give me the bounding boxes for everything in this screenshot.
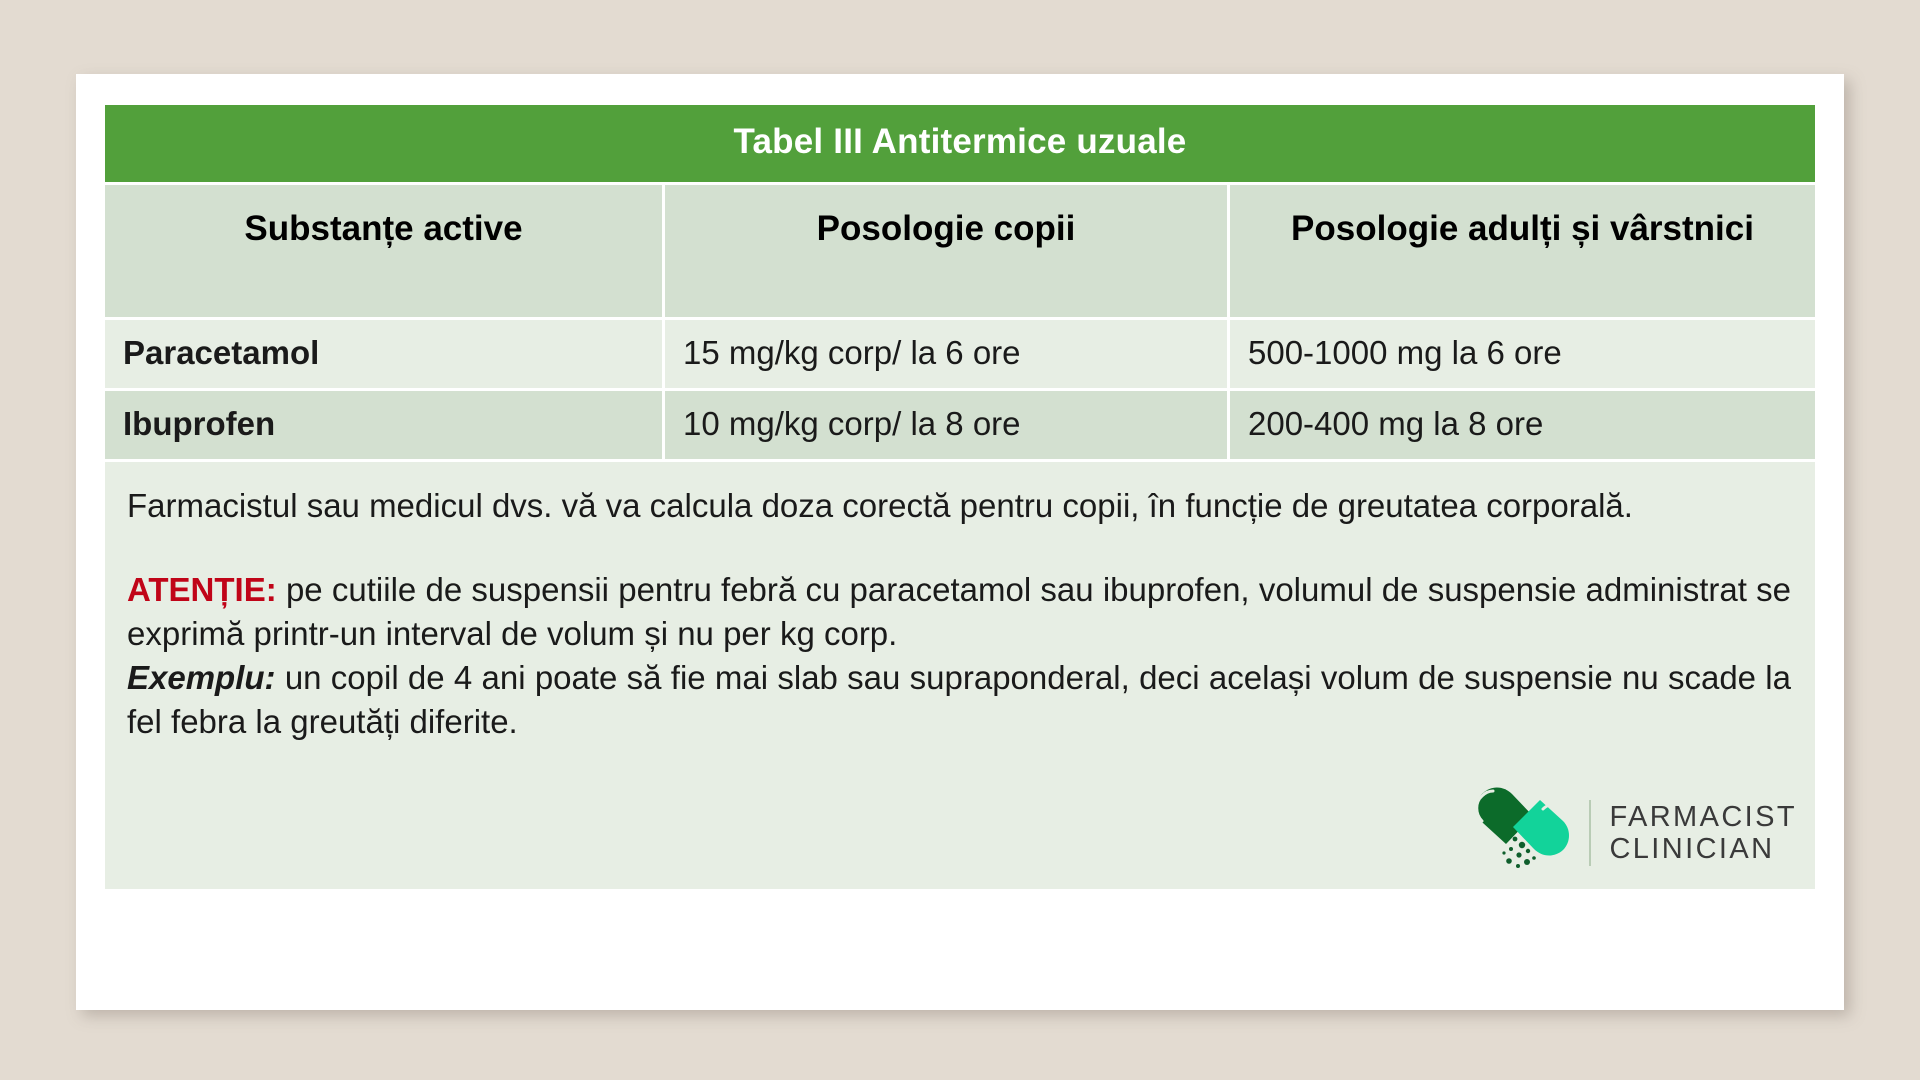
antipyretics-table: Tabel III Antitermice uzuale Substanțe a…	[105, 105, 1815, 459]
cell-children-dose: 15 mg/kg corp/ la 6 ore	[665, 317, 1230, 388]
column-header-adult-dosage: Posologie adulți și vârstnici	[1230, 182, 1815, 317]
notes-panel: Farmacistul sau medicul dvs. vă va calcu…	[105, 459, 1815, 889]
table-row: Paracetamol 15 mg/kg corp/ la 6 ore 500-…	[105, 317, 1815, 388]
logo-divider	[1589, 800, 1591, 866]
warning-text: pe cutiile de suspensii pentru febră cu …	[127, 571, 1791, 652]
table-row: Ibuprofen 10 mg/kg corp/ la 8 ore 200-40…	[105, 388, 1815, 459]
logo-wordmark: FARMACIST CLINICIAN	[1609, 801, 1797, 866]
cell-substance: Paracetamol	[105, 317, 665, 388]
brand-logo: FARMACIST CLINICIAN	[1471, 785, 1797, 881]
warning-label: ATENȚIE:	[127, 571, 277, 608]
slide-stage: Tabel III Antitermice uzuale Substanțe a…	[0, 0, 1920, 1080]
note-paragraph-dosing: Farmacistul sau medicul dvs. vă va calcu…	[127, 484, 1791, 528]
example-label: Exemplu:	[127, 659, 276, 696]
cell-adult-dose: 500-1000 mg la 6 ore	[1230, 317, 1815, 388]
note-paragraph-example: Exemplu: un copil de 4 ani poate să fie …	[127, 656, 1791, 744]
table-title: Tabel III Antitermice uzuale	[105, 105, 1815, 182]
example-text: un copil de 4 ani poate să fie mai slab …	[127, 659, 1791, 740]
cell-adult-dose: 200-400 mg la 8 ore	[1230, 388, 1815, 459]
table-header-row: Substanțe active Posologie copii Posolog…	[105, 182, 1815, 317]
paragraph-spacer	[127, 528, 1791, 568]
column-header-substances: Substanțe active	[105, 182, 665, 317]
note-paragraph-warning: ATENȚIE: pe cutiile de suspensii pentru …	[127, 568, 1791, 656]
logo-line-farmacist: FARMACIST	[1609, 801, 1797, 833]
slide-content: Tabel III Antitermice uzuale Substanțe a…	[105, 105, 1815, 979]
cell-children-dose: 10 mg/kg corp/ la 8 ore	[665, 388, 1230, 459]
column-header-children-dosage: Posologie copii	[665, 182, 1230, 317]
cell-substance: Ibuprofen	[105, 388, 665, 459]
logo-line-clinician: CLINICIAN	[1609, 833, 1797, 865]
slide-card: Tabel III Antitermice uzuale Substanțe a…	[76, 74, 1844, 1010]
table-title-row: Tabel III Antitermice uzuale	[105, 105, 1815, 182]
capsule-icon	[1471, 787, 1579, 879]
